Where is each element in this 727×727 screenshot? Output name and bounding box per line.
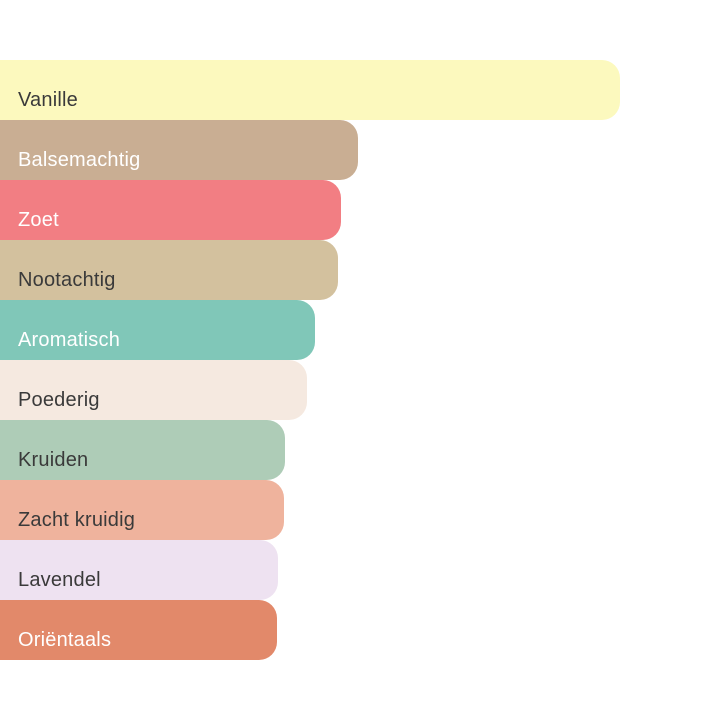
bar-segment[interactable] (0, 540, 278, 600)
bar-row[interactable]: Aromatisch (0, 300, 727, 360)
bar-row[interactable]: Zoet (0, 180, 727, 240)
bar-segment[interactable] (0, 360, 307, 420)
bar-row[interactable]: Balsemachtig (0, 120, 727, 180)
bar-row[interactable]: Poederig (0, 360, 727, 420)
bar-segment[interactable] (0, 120, 358, 180)
bar-segment[interactable] (0, 480, 284, 540)
bar-row[interactable]: Oriëntaals (0, 600, 727, 660)
bar-segment[interactable] (0, 60, 620, 120)
bar-segment[interactable] (0, 420, 285, 480)
bar-row[interactable]: Vanille (0, 60, 727, 120)
bar-chart: VanilleBalsemachtigZoetNootachtigAromati… (0, 0, 727, 727)
bar-segment[interactable] (0, 240, 338, 300)
bar-segment[interactable] (0, 600, 277, 660)
bar-segment[interactable] (0, 300, 315, 360)
bar-row[interactable]: Zacht kruidig (0, 480, 727, 540)
bar-segment[interactable] (0, 180, 341, 240)
bar-row[interactable]: Nootachtig (0, 240, 727, 300)
bar-row[interactable]: Lavendel (0, 540, 727, 600)
bars-area: VanilleBalsemachtigZoetNootachtigAromati… (0, 60, 727, 660)
bar-row[interactable]: Kruiden (0, 420, 727, 480)
